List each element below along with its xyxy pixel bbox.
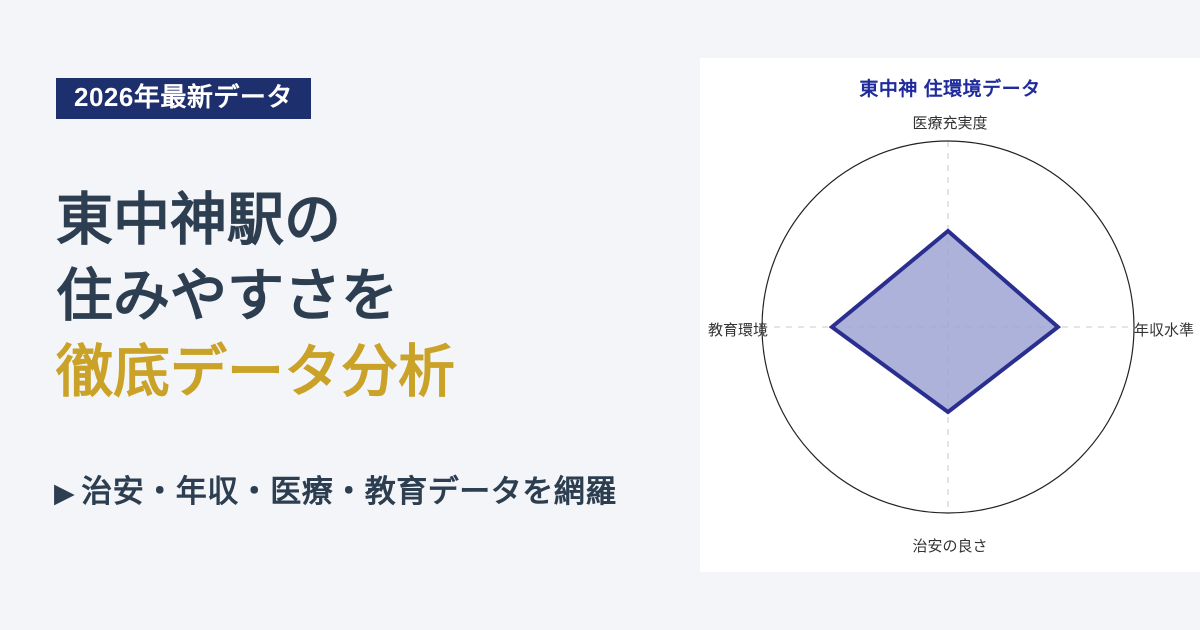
radar-chart-svg: [700, 58, 1200, 572]
subtitle: ▶治安・年収・医療・教育データを網羅: [54, 466, 617, 511]
axis-label-medical: 医療充実度: [700, 112, 1200, 133]
headline-line-1: 東中神駅の: [56, 183, 676, 259]
axis-label-education: 教育環境: [708, 319, 768, 340]
subtitle-text: 治安・年収・医療・教育データを網羅: [81, 474, 617, 509]
headline-line-3-accent: 徹底データ分析: [56, 335, 676, 411]
radar-chart-panel: 東中神 住環境データ 医療充実度 年収水準 治安の良さ 教育環境: [700, 58, 1200, 572]
triangle-right-icon: ▶: [54, 478, 75, 509]
axis-label-income: 年収水準: [1134, 319, 1194, 340]
axis-label-safety: 治安の良さ: [700, 535, 1200, 556]
page-title: 東中神駅の 住みやすさを 徹底データ分析: [56, 183, 676, 410]
left-text-column: 2026年最新データ 東中神駅の 住みやすさを 徹底データ分析 ▶治安・年収・医…: [0, 0, 700, 630]
headline-line-2: 住みやすさを: [56, 259, 676, 335]
latest-data-badge: 2026年最新データ: [56, 78, 311, 119]
poster-canvas: 2026年最新データ 東中神駅の 住みやすさを 徹底データ分析 ▶治安・年収・医…: [0, 0, 1200, 630]
radar-series-polygon: [832, 231, 1058, 412]
